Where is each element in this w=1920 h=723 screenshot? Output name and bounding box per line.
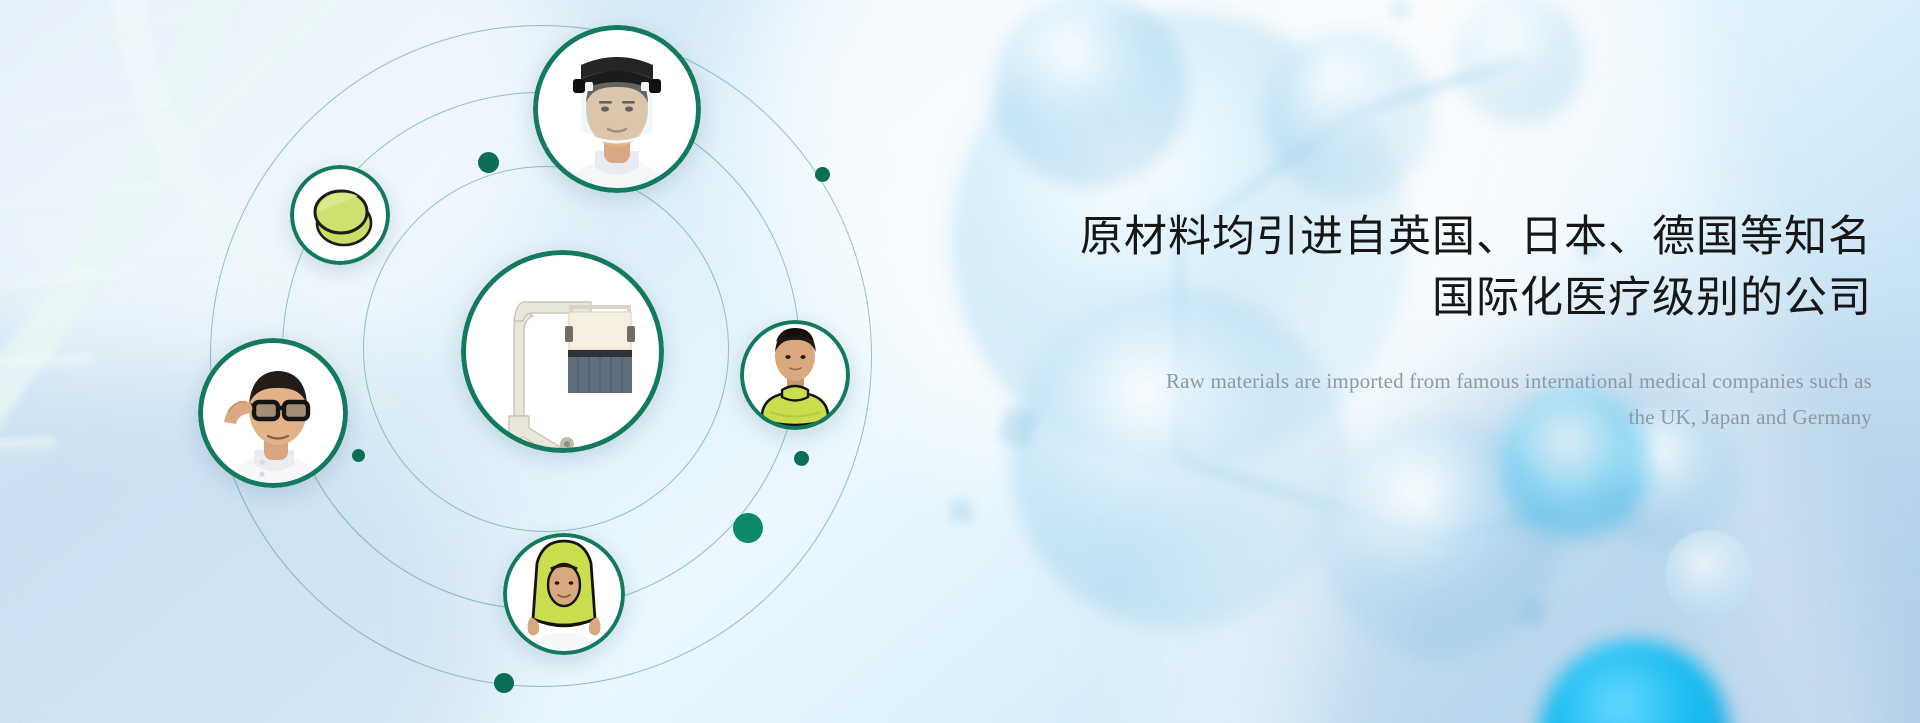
product-bubble-face-shield[interactable]: [533, 25, 701, 193]
thyroid-collar-icon: [740, 320, 850, 430]
copy-block: 原材料均引进自英国、日本、德国等知名 国际化医疗级别的公司 Raw materi…: [1062, 208, 1872, 435]
mobile-lead-screen-icon: [461, 250, 664, 453]
product-bubble-thyroid-collar[interactable]: [740, 320, 850, 430]
lead-hood-icon: [503, 533, 625, 655]
headline-line-2: 国际化医疗级别的公司: [1062, 269, 1872, 328]
lead-glasses-icon: [198, 338, 348, 488]
promo-banner: 原材料均引进自英国、日本、德国等知名 国际化医疗级别的公司 Raw materi…: [0, 0, 1920, 723]
orbit-dot-4: [794, 451, 809, 466]
orbit-dot-5: [733, 513, 763, 543]
orbit-dot-3: [352, 449, 365, 462]
product-bubble-mobile-lead-screen[interactable]: [461, 250, 664, 453]
orbit-dot-6: [494, 673, 514, 693]
subtitle-block: Raw materials are imported from famous i…: [1062, 363, 1872, 435]
product-bubble-lead-hood[interactable]: [503, 533, 625, 655]
face-shield-icon: [533, 25, 701, 193]
subtitle-line-1: Raw materials are imported from famous i…: [1062, 363, 1872, 399]
lead-cap-icon: [290, 165, 390, 265]
subtitle-line-2: the UK, Japan and Germany: [1062, 399, 1872, 435]
product-bubble-lead-cap[interactable]: [290, 165, 390, 265]
product-bubble-lead-glasses[interactable]: [198, 338, 348, 488]
headline-line-1: 原材料均引进自英国、日本、德国等知名: [1062, 208, 1872, 267]
orbit-dot-2: [815, 167, 830, 182]
orbit-dot-1: [478, 152, 499, 173]
